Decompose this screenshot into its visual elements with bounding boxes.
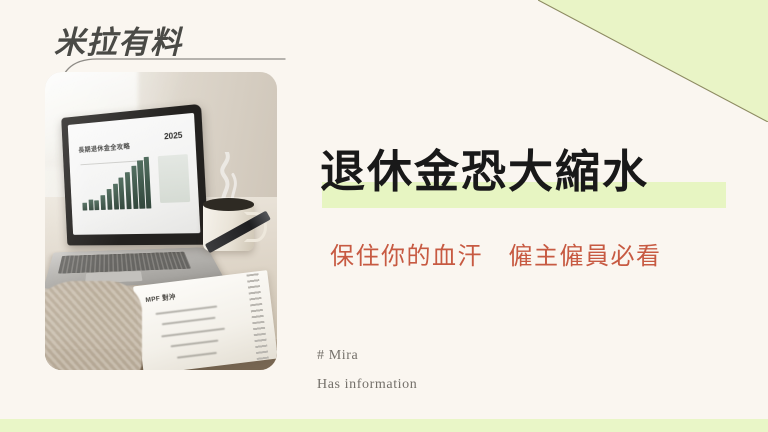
page-title: 退休金恐大縮水	[320, 145, 649, 198]
meta-block: # Mira Has information	[317, 348, 417, 406]
page-subtitle: 保住你的血汗 僱主僱員必看	[330, 236, 662, 271]
photo-notebook: MPF 對沖	[133, 270, 277, 370]
photo-notebook-title: MPF 對沖	[145, 290, 176, 304]
photo-laptop-display: 長期退休金全攻略 2025	[68, 113, 200, 235]
photo-laptop-year: 2025	[164, 130, 183, 141]
photo-laptop-sidepanel	[158, 154, 190, 203]
photo-scene: 長期退休金全攻略 2025	[45, 72, 277, 370]
bottom-accent-band	[0, 419, 768, 432]
hero-photo: 長期退休金全攻略 2025	[45, 72, 277, 370]
meta-handle: # Mira	[317, 348, 417, 364]
brand-logo: 米拉有料	[54, 17, 182, 62]
photo-laptop-bar-chart	[80, 157, 151, 211]
meta-tagline: Has information	[317, 377, 417, 393]
photo-knit-blanket	[45, 281, 142, 370]
corner-triangle-decoration	[538, 0, 768, 122]
poster-canvas: 米拉有料 長期退休金全攻略 2025	[0, 0, 768, 432]
photo-laptop-headline: 長期退休金全攻略	[78, 140, 130, 154]
photo-laptop-keyboard	[58, 251, 192, 273]
photo-laptop-screen: 長期退休金全攻略 2025	[61, 103, 208, 245]
headline-block: 退休金恐大縮水	[320, 145, 649, 198]
photo-coffee-surface	[203, 198, 254, 210]
photo-notebook-spiral	[247, 273, 269, 360]
